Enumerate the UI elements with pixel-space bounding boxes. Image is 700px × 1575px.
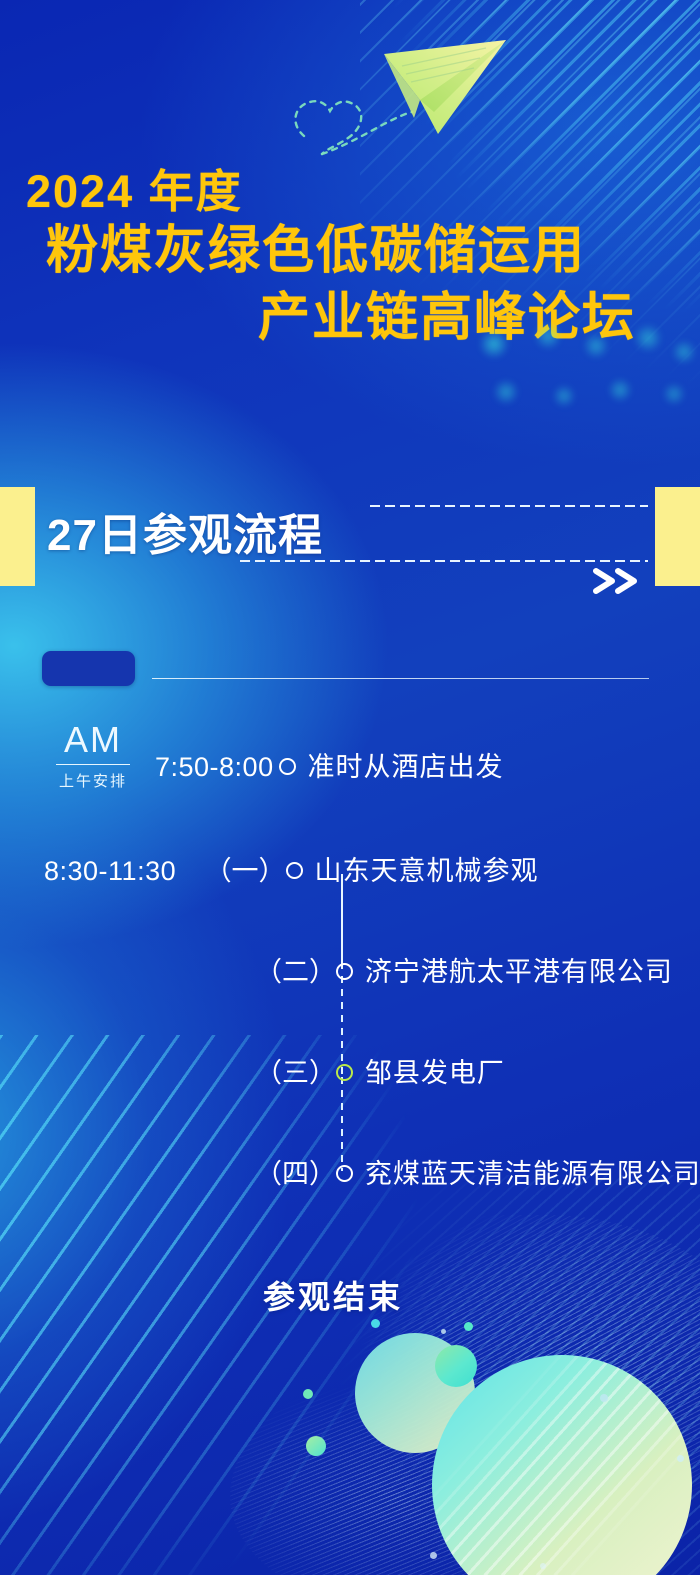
schedule-row-4[interactable]: （三） 邹县发电厂 (255, 1051, 505, 1090)
schedule-row-2[interactable]: 8:30-11:30 （一） 山东天意机械参观 (44, 849, 538, 888)
decor-dot-3 (371, 1319, 380, 1328)
schedule-index-5: （四） (255, 1159, 336, 1189)
schedule-bullet-5 (336, 1165, 353, 1182)
decor-dot-2 (306, 1436, 326, 1456)
schedule-text-4: 邹县发电厂 (365, 1058, 505, 1088)
schedule-row-1[interactable]: 7:50-8:00 准时从酒店出发 (155, 745, 504, 784)
schedule-list: 7:50-8:00 准时从酒店出发 8:30-11:30 （一） 山东天意机械参… (0, 0, 700, 1575)
end-label: 参观结束 (263, 1272, 403, 1318)
schedule-index-4: （三） (255, 1058, 336, 1088)
decor-dot-5 (441, 1329, 446, 1334)
schedule-text-2: 山东天意机械参观 (314, 856, 538, 886)
decor-circle-small (435, 1345, 477, 1387)
schedule-index-3: （二） (255, 957, 336, 987)
decor-dot-7 (677, 1455, 684, 1462)
schedule-time-1: 7:50-8:00 (155, 752, 274, 782)
schedule-row-5[interactable]: （四） 兖煤蓝天清洁能源有限公司 (255, 1152, 700, 1191)
schedule-bullet-2 (286, 862, 303, 879)
decor-dot-6 (600, 1394, 608, 1402)
decor-dot-1 (303, 1389, 313, 1399)
schedule-index-2: （一） (205, 856, 286, 886)
schedule-bullet-4 (336, 1064, 353, 1081)
poster-canvas: 2024 年度 粉煤灰绿色低碳储运用 产业链高峰论坛 27日参观流程 AM 上午… (0, 0, 700, 1575)
schedule-text-5: 兖煤蓝天清洁能源有限公司 (365, 1159, 700, 1189)
schedule-text-1: 准时从酒店出发 (308, 752, 504, 782)
decor-dot-4 (464, 1322, 473, 1331)
schedule-time-2: 8:30-11:30 (44, 856, 176, 886)
schedule-bullet-3 (336, 963, 353, 980)
decor-dot-8 (430, 1552, 437, 1559)
schedule-text-3: 济宁港航太平港有限公司 (365, 957, 673, 987)
schedule-bullet-1 (279, 758, 296, 775)
schedule-row-3[interactable]: （二） 济宁港航太平港有限公司 (255, 950, 673, 989)
decor-dot-9 (540, 1563, 546, 1569)
